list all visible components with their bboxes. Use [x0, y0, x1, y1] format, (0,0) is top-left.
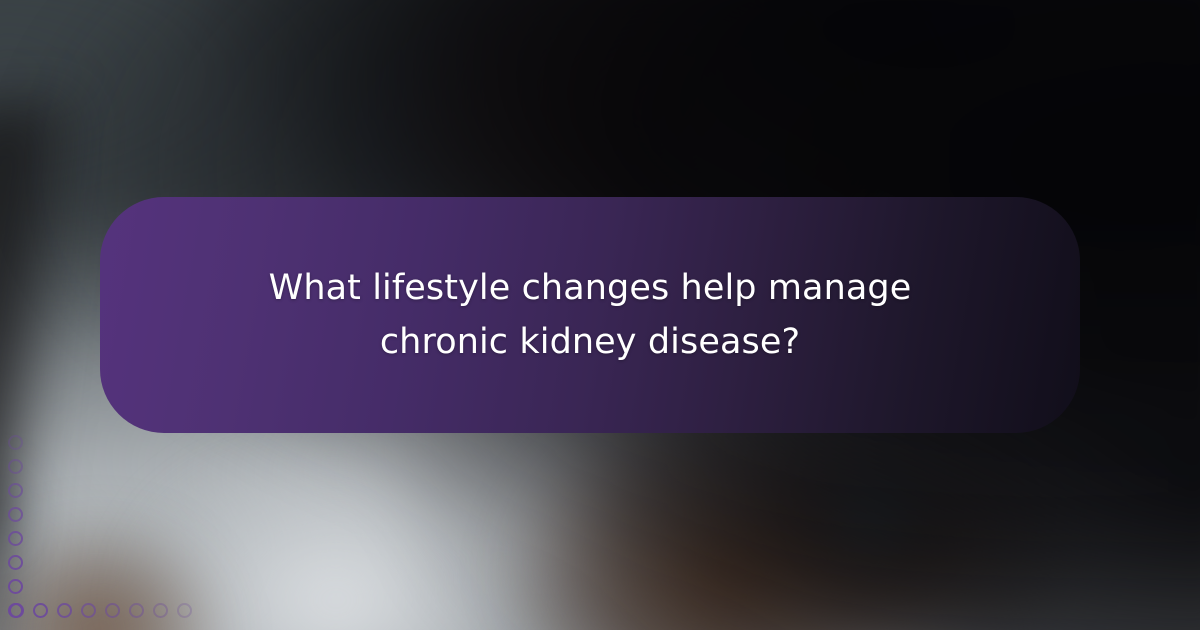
quote-card: What lifestyle changes help manage chron… — [100, 197, 1080, 433]
quote-text: What lifestyle changes help manage chron… — [220, 261, 960, 370]
screenshot-root: What lifestyle changes help manage chron… — [0, 0, 1200, 630]
